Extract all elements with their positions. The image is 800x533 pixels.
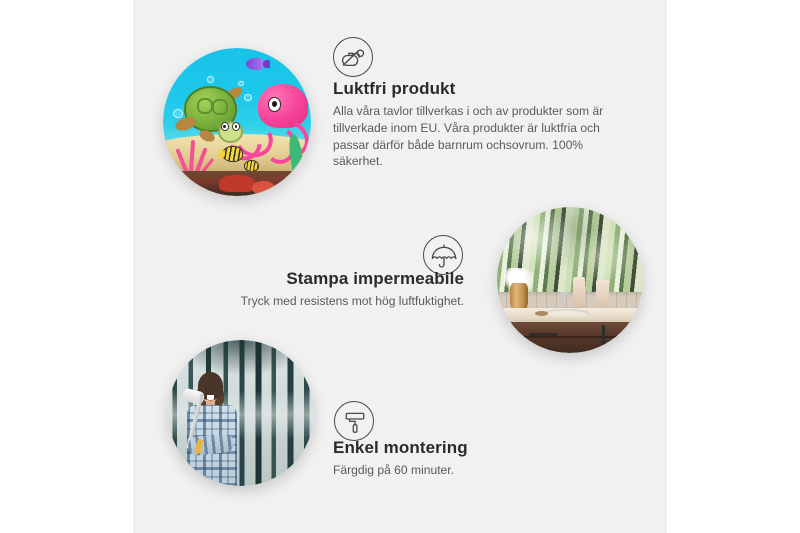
yellow-striped-fish bbox=[222, 146, 243, 162]
bubble-icon bbox=[173, 109, 182, 118]
turtle-eye bbox=[232, 122, 240, 131]
bubble-icon bbox=[244, 94, 251, 101]
soap-dish bbox=[535, 311, 548, 316]
feature-title-mounting: Enkel montering bbox=[333, 438, 573, 458]
feature-text-mounting: Enkel montering Färgdig på 60 minuter. bbox=[333, 438, 573, 479]
red-seabed-element bbox=[252, 181, 276, 194]
feature-text-waterproof: Stampa impermeabile Tryck med resistens … bbox=[218, 269, 464, 310]
cabinet-handle bbox=[602, 325, 605, 344]
purple-fish bbox=[246, 58, 265, 70]
wooden-vanity-cabinet bbox=[497, 322, 643, 353]
red-seabed-element bbox=[219, 175, 255, 191]
turtle-eye bbox=[221, 122, 229, 131]
woman-figure bbox=[177, 369, 259, 486]
underwater-cartoon-mural-photo bbox=[163, 48, 311, 196]
feature-description-waterproof: Tryck med resistens mot hög luftfuktighe… bbox=[218, 293, 464, 310]
bubble-icon bbox=[207, 76, 213, 82]
feature-description-odourless: Alla våra tavlor tillverkas i och av pro… bbox=[333, 103, 625, 170]
feature-title-waterproof: Stampa impermeabile bbox=[218, 269, 464, 289]
rolled-towel bbox=[596, 280, 609, 311]
octopus-head bbox=[258, 84, 308, 128]
drawer-seam bbox=[497, 336, 643, 338]
eye bbox=[205, 388, 207, 390]
bathroom-scene bbox=[497, 207, 643, 353]
feature-title-odourless: Luktfri produkt bbox=[333, 79, 625, 99]
underwater-scene bbox=[163, 48, 311, 196]
rolled-towel bbox=[573, 277, 585, 309]
eye bbox=[213, 388, 215, 390]
feature-text-odourless: Luktfri produkt Alla våra tavlor tillver… bbox=[333, 79, 625, 170]
bathroom-tropical-wallpaper-photo bbox=[497, 207, 643, 353]
paint-roller-icon bbox=[334, 401, 374, 441]
feature-description-mounting: Färgdig på 60 minuter. bbox=[333, 462, 573, 479]
forest-mural-scene bbox=[168, 340, 314, 486]
no-odour-icon bbox=[333, 37, 373, 77]
woman-with-paint-roller-forest-mural-photo bbox=[168, 340, 314, 486]
drawer-handle bbox=[529, 333, 558, 336]
product-feature-infographic: Luktfri produkt Alla våra tavlor tillver… bbox=[0, 0, 800, 533]
octopus-eye bbox=[268, 97, 281, 112]
